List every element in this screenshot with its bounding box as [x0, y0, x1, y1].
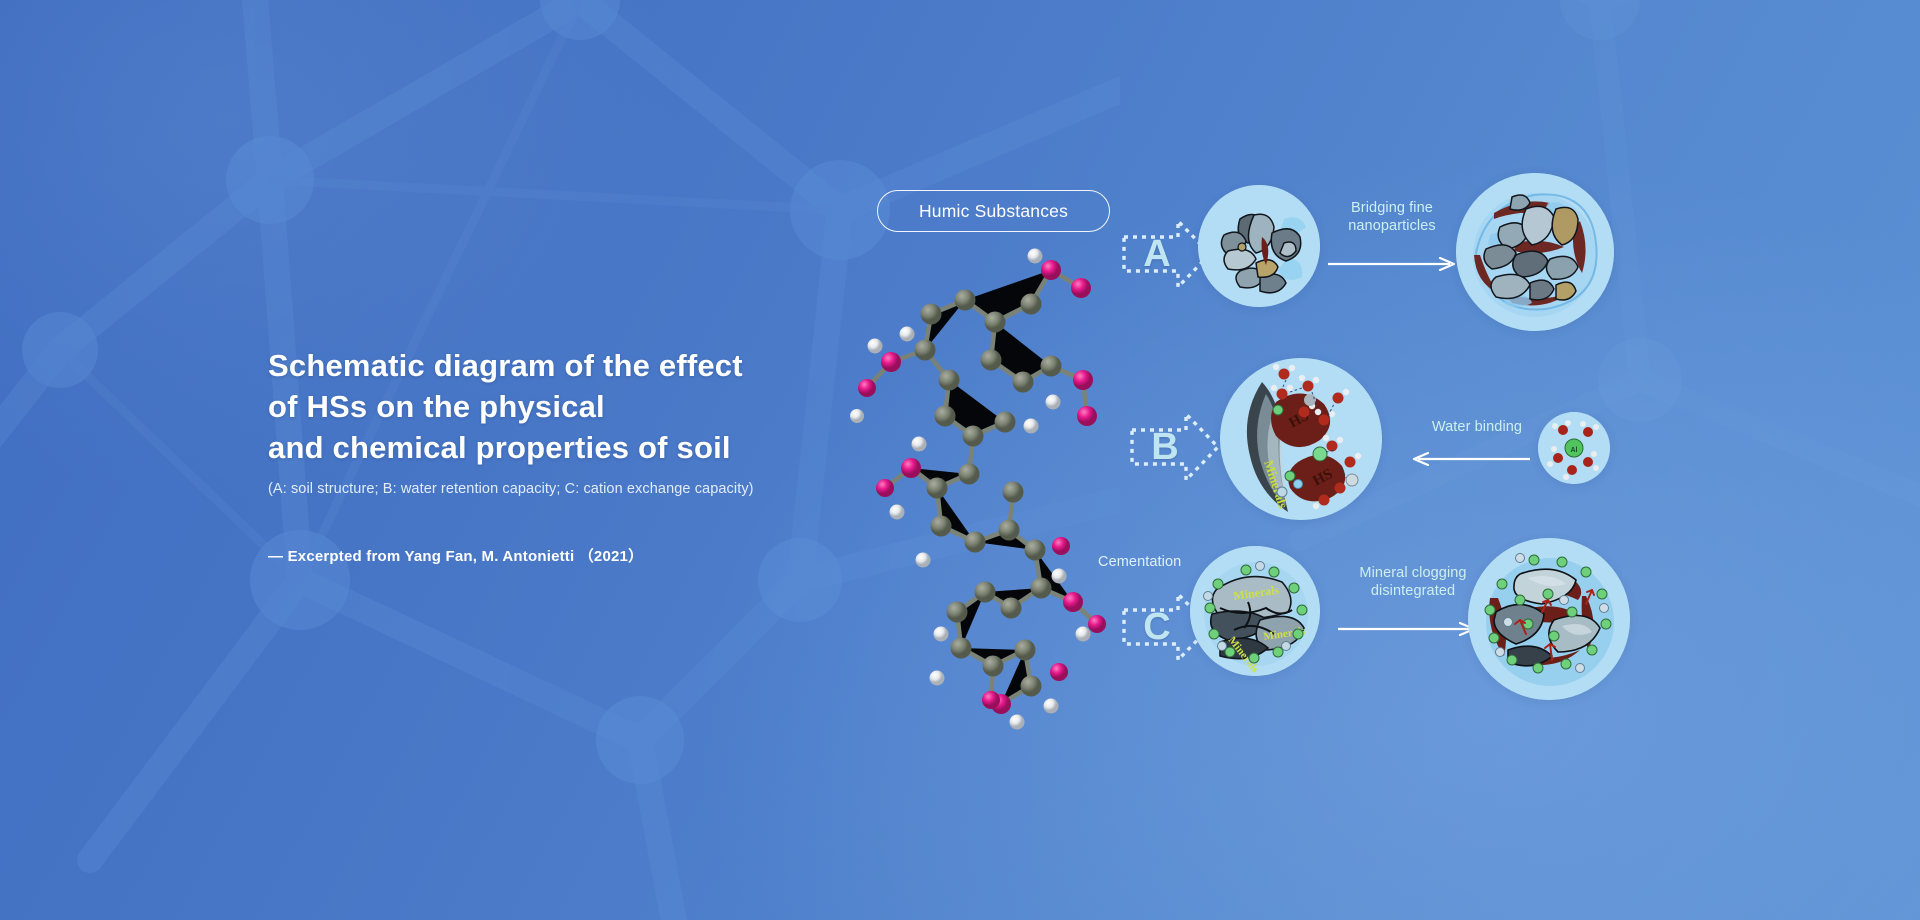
mineral-clogging-disc[interactable]: Minerals Minerals Minerals — [1190, 546, 1320, 676]
title-line-2: of HSs on the physical — [268, 389, 605, 424]
step-a-letter: A — [1124, 215, 1190, 293]
humic-substances-chip-label: Humic Substances — [919, 201, 1068, 222]
row-b-flow-arrow-icon — [1408, 452, 1532, 466]
cation-label: Al — [1571, 447, 1578, 454]
step-c-letter: C — [1124, 588, 1190, 666]
attribution-line: — Excerpted from Yang Fan, M. Antonietti… — [268, 545, 908, 566]
poster-canvas: Schematic diagram of the effect of HSs o… — [0, 0, 1920, 920]
row-b-flow-label: Water binding — [1412, 418, 1542, 436]
text-block: Schematic diagram of the effect of HSs o… — [268, 345, 908, 566]
title-line-3: and chemical properties of soil — [268, 430, 731, 465]
humic-substances-chip[interactable]: Humic Substances — [877, 190, 1110, 232]
subtitle-legend: (A: soil structure; B: water retention c… — [268, 481, 908, 497]
row-c-cation-exchange: Cementation C Minerals — [1120, 560, 1920, 760]
row-a-flow-label: Bridging fine nanoparticles — [1318, 199, 1466, 235]
row-a-flow-arrow-icon — [1326, 257, 1462, 271]
row-b-water-retention: B HS HS Minerals — [1120, 370, 1920, 570]
hs-mineral-water-disc[interactable]: HS HS Minerals — [1220, 358, 1382, 520]
cation-exchange-disc[interactable] — [1468, 538, 1630, 700]
row-c-flow-arrow-icon — [1336, 622, 1482, 636]
title-line-1: Schematic diagram of the effect — [268, 348, 743, 383]
loose-soil-particles-disc[interactable] — [1198, 185, 1320, 307]
row-c-cementation-label: Cementation — [1098, 554, 1181, 570]
bridged-aggregate-disc[interactable] — [1456, 173, 1614, 331]
page-title: Schematic diagram of the effect of HSs o… — [268, 345, 908, 468]
row-a-soil-structure: A — [1120, 185, 1920, 375]
hydrated-cation-disc[interactable]: Al — [1538, 412, 1610, 484]
step-b-letter: B — [1132, 408, 1198, 486]
